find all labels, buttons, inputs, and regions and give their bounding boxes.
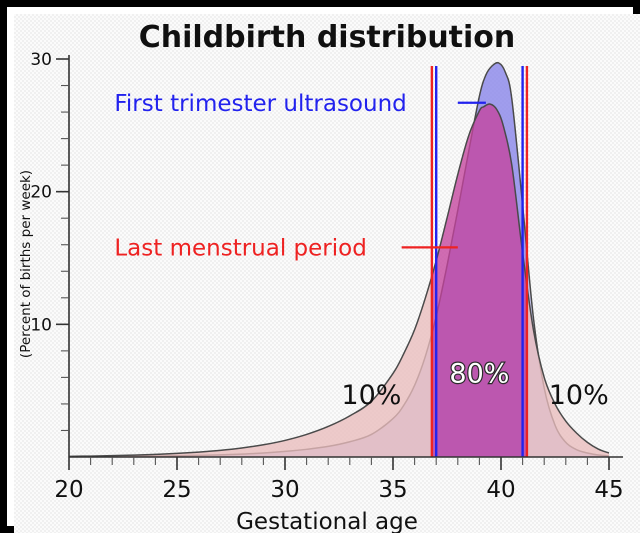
x-tick-label: 25 [162,477,191,503]
chart-title: Childbirth distribution [139,20,516,55]
series-1-label: First trimester ultrasound [114,91,406,117]
x-tick-label: 20 [54,477,83,503]
x-tick-label: 45 [594,477,623,503]
x-tick-label: 35 [378,477,407,503]
childbirth-distribution-chart: 202530354045102030 Childbirth distributi… [14,14,640,533]
y-axis-title: (Percent of births per week) [18,170,34,358]
central-band-percent: 80% [449,359,509,390]
series-2-label: Last menstrual period [114,235,366,261]
x-axis-title: Gestational age [236,509,418,533]
x-tick-label: 30 [270,477,299,503]
plot-surface: 202530354045102030 Childbirth distributi… [14,14,640,533]
y-tick-label: 30 [30,50,52,70]
left-tail-percent: 10% [341,380,401,411]
figure-frame: 202530354045102030 Childbirth distributi… [0,0,640,533]
x-tick-label: 40 [486,477,515,503]
right-tail-percent: 10% [549,380,609,411]
